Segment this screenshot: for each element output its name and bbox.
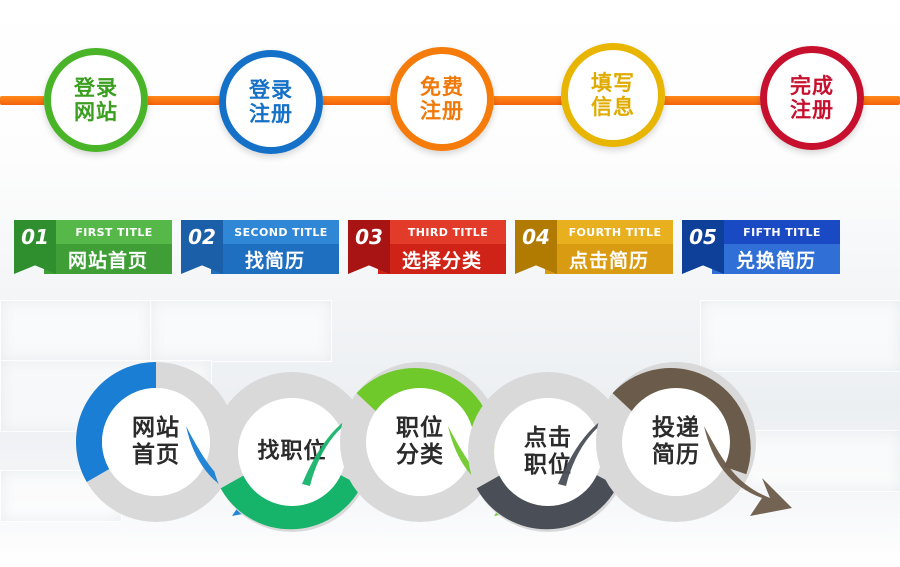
ribbon-steps-section: FIRST TITLE 网站首页 01 SECOND TITLE 找简历 02 … — [0, 218, 900, 284]
flow-arrow-5 — [696, 424, 816, 544]
ribbon-step-5-number: 05 — [682, 220, 724, 274]
ribbon-step-1-number: 01 — [14, 220, 56, 274]
circle-step-4-label: 填写 信息 — [591, 71, 635, 120]
ribbon-step-4-cn: 点击简历 — [545, 244, 673, 274]
ribbon-step-4-number: 04 — [515, 220, 557, 274]
donut-node-5-label: 投递 简历 — [652, 415, 700, 469]
ribbon-step-2[interactable]: SECOND TITLE 找简历 02 — [181, 218, 339, 278]
circle-steps-section: 登录 网站 登录 注册 免费 注册 填写 信息 完成 注册 — [0, 0, 900, 175]
donut-node-1-label: 网站 首页 — [132, 415, 180, 469]
donut-flow-section: 网站 首页 找职位 职位 分 — [0, 352, 900, 532]
circle-step-2[interactable]: 登录 注册 — [219, 50, 323, 154]
circle-step-2-label: 登录 注册 — [249, 78, 293, 127]
ribbon-step-2-en: SECOND TITLE — [223, 220, 339, 244]
ribbon-step-4[interactable]: FOURTH TITLE 点击简历 04 — [515, 218, 673, 278]
circle-step-5-label: 完成 注册 — [790, 74, 834, 123]
circle-step-5[interactable]: 完成 注册 — [760, 46, 864, 150]
ribbon-step-1[interactable]: FIRST TITLE 网站首页 01 — [14, 218, 172, 278]
circle-step-4[interactable]: 填写 信息 — [561, 43, 665, 147]
ribbon-step-2-number: 02 — [181, 220, 223, 274]
ribbon-step-3-en: THIRD TITLE — [390, 220, 506, 244]
donut-node-3-label: 职位 分类 — [396, 415, 444, 469]
circle-step-3[interactable]: 免费 注册 — [390, 47, 494, 151]
ribbon-step-5-cn: 兑换简历 — [712, 244, 840, 274]
ribbon-step-2-cn: 找简历 — [211, 244, 339, 274]
diagram-canvas: 登录 网站 登录 注册 免费 注册 填写 信息 完成 注册 FIRST TITL… — [0, 0, 900, 567]
ribbon-step-1-en: FIRST TITLE — [56, 220, 172, 244]
ribbon-step-5-en: FIFTH TITLE — [724, 220, 840, 244]
ribbon-step-4-en: FOURTH TITLE — [557, 220, 673, 244]
ribbon-step-3-number: 03 — [348, 220, 390, 274]
ribbon-step-1-cn: 网站首页 — [44, 244, 172, 274]
ribbon-step-5[interactable]: FIFTH TITLE 兑换简历 05 — [682, 218, 840, 278]
circle-step-1-label: 登录 网站 — [74, 76, 118, 125]
ribbon-step-3-cn: 选择分类 — [378, 244, 506, 274]
circle-step-1[interactable]: 登录 网站 — [44, 48, 148, 152]
circle-step-3-label: 免费 注册 — [420, 75, 464, 124]
ribbon-step-3[interactable]: THIRD TITLE 选择分类 03 — [348, 218, 506, 278]
